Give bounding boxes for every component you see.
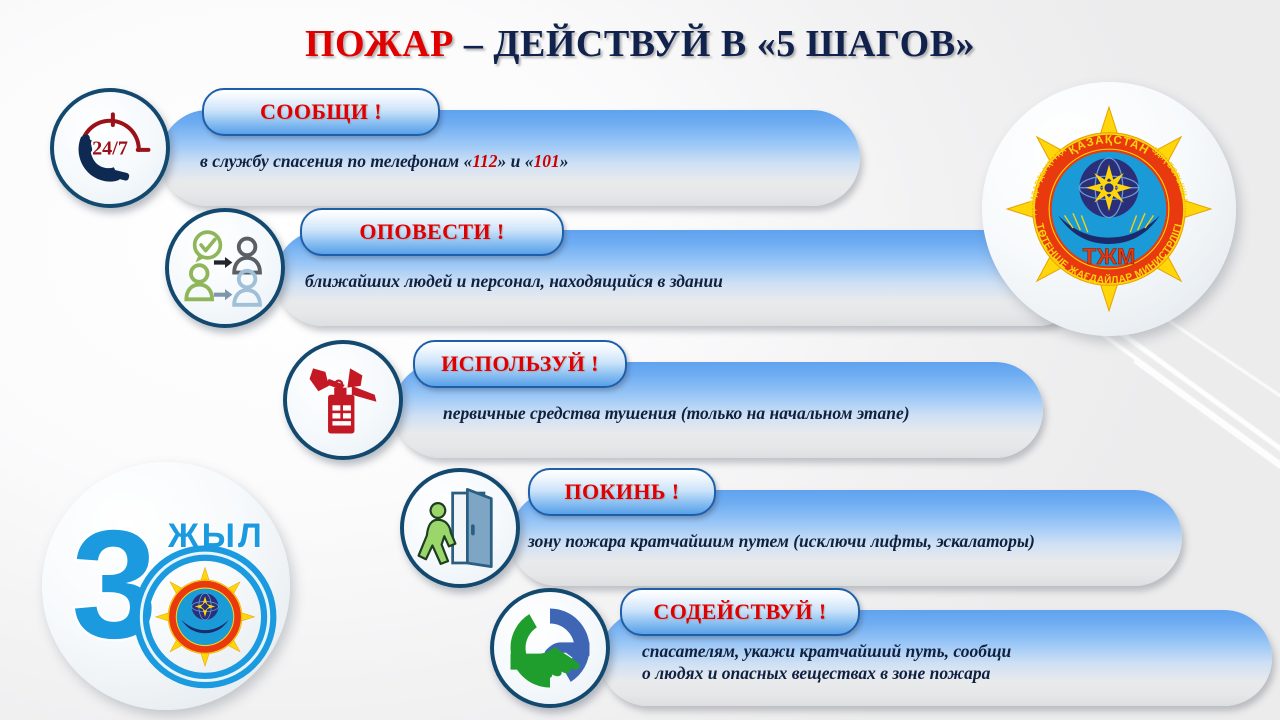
icon-24-7-label: 24/7 xyxy=(92,138,128,160)
step-description-part: в службу спасения по телефонам « xyxy=(200,151,472,171)
emblem-center-text: ТЖМ xyxy=(1083,244,1136,269)
step-description: ближайших людей и персонал, находящийся … xyxy=(305,270,723,292)
step-description-part: зону пожара кратчайшим путем (исключи ли… xyxy=(528,531,1035,551)
step-description: спасателям, укажи кратчайший путь, сообщ… xyxy=(642,640,1011,684)
step-icon-circle[interactable] xyxy=(283,340,403,460)
emblem-badge: ҚАЗАҚСТАН ТӨТЕНШЕ ЖАҒДАЙЛАР МИНИСТРЛІГІ … xyxy=(982,82,1236,336)
step-description-part: первичные средства тушения (только на на… xyxy=(443,403,910,423)
step-description: первичные средства тушения (только на на… xyxy=(443,402,910,424)
step-description-part: » и « xyxy=(498,151,534,171)
step-label: СОДЕЙСТВУЙ ! xyxy=(653,599,826,625)
step-description-line-2: о людях и опасных веществах в зоне пожар… xyxy=(642,662,1011,684)
step-header-pill[interactable]: СОДЕЙСТВУЙ ! xyxy=(620,588,860,636)
emergency-number-112: 112 xyxy=(472,151,497,171)
step-description: в службу спасения по телефонам «112» и «… xyxy=(200,150,569,172)
step-label: ОПОВЕСТИ ! xyxy=(359,219,504,245)
poster-canvas: ПОЖАР – ДЕЙСТВУЙ В «5 ШАГОВ» СООБЩИ ! в … xyxy=(0,0,1280,720)
step-header-pill[interactable]: ПОКИНЬ ! xyxy=(528,468,716,516)
step-icon-circle[interactable] xyxy=(400,468,520,588)
step-description-part: » xyxy=(560,151,569,171)
phone-24-7-icon: 24/7 xyxy=(62,100,158,196)
step-description-part: ближайших людей и персонал, находящийся … xyxy=(305,271,723,291)
step-icon-circle[interactable] xyxy=(165,208,285,328)
poster-title: ПОЖАР – ДЕЙСТВУЙ В «5 ШАГОВ» xyxy=(0,22,1280,66)
step-header-pill[interactable]: ОПОВЕСТИ ! xyxy=(300,208,564,256)
notify-people-icon xyxy=(179,222,271,314)
step-icon-circle[interactable]: 24/7 xyxy=(50,88,170,208)
step-header-pill[interactable]: ИСПОЛЬЗУЙ ! xyxy=(413,340,627,388)
emergency-number-101: 101 xyxy=(534,151,560,171)
title-highlight: ПОЖАР xyxy=(305,23,454,65)
handshake-icon xyxy=(503,601,597,695)
30-years-anniversary-logo: 3 ЖЫЛ xyxy=(53,473,279,699)
step-label: ПОКИНЬ ! xyxy=(565,479,680,505)
kazakhstan-emergency-ministry-emblem: ҚАЗАҚСТАН ТӨТЕНШЕ ЖАҒДАЙЛАР МИНИСТРЛІГІ … xyxy=(1003,103,1215,315)
title-rest: – ДЕЙСТВУЙ В «5 ШАГОВ» xyxy=(454,23,975,65)
anniversary-badge: 3 ЖЫЛ xyxy=(42,462,290,710)
exit-door-running-person-icon xyxy=(414,482,506,574)
step-icon-circle[interactable] xyxy=(490,588,610,708)
step-header-pill[interactable]: СООБЩИ ! xyxy=(202,88,440,136)
step-label: СООБЩИ ! xyxy=(260,99,382,125)
step-description-line-1: спасателям, укажи кратчайший путь, сообщ… xyxy=(642,640,1011,662)
step-label: ИСПОЛЬЗУЙ ! xyxy=(441,351,599,377)
fire-extinguisher-icon xyxy=(299,356,387,444)
step-description: зону пожара кратчайшим путем (исключи ли… xyxy=(528,530,1035,552)
